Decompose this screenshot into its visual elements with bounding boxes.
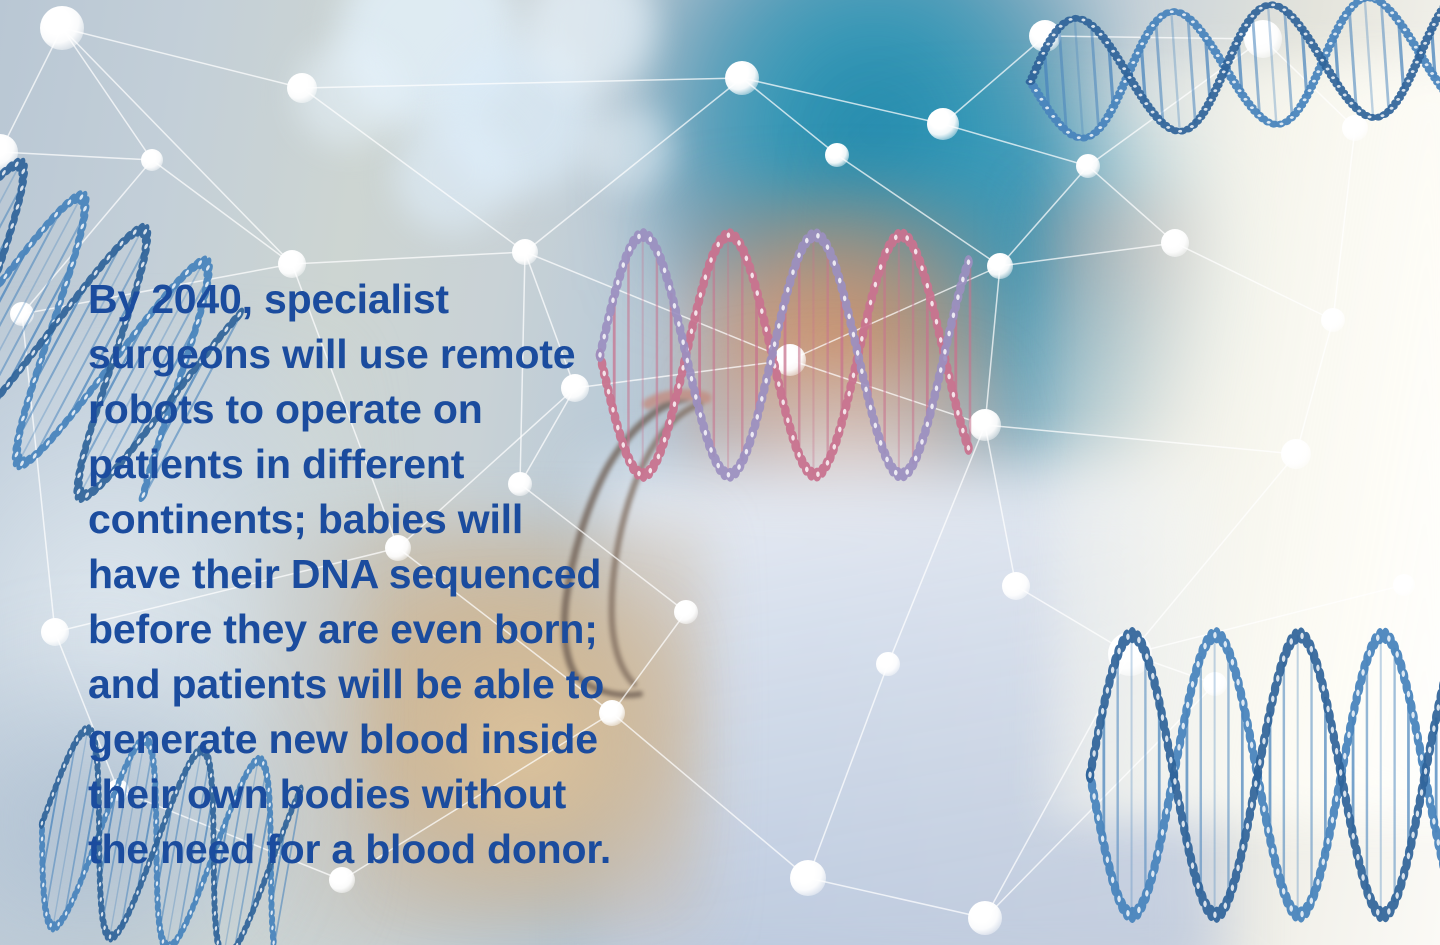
quote-text: By 2040, specialist surgeons will use re…	[88, 272, 648, 877]
dna-rung	[1253, 16, 1260, 116]
dna-rung	[1075, 18, 1083, 138]
dna-rung	[1156, 22, 1163, 124]
dna-strand	[1090, 635, 1440, 915]
dna-rung	[1091, 25, 1098, 130]
dna-centre-pink-icon	[600, 205, 970, 505]
dna-rung	[0, 184, 22, 388]
dna-strand	[1026, 0, 1440, 142]
dna-rung	[1188, 17, 1195, 123]
dna-bottom-right-icon	[1090, 600, 1440, 945]
dna-rung	[1381, 3, 1389, 112]
dna-rung	[1059, 28, 1066, 131]
dna-rung	[53, 730, 88, 927]
dna-top-right-icon	[1025, 0, 1440, 156]
quote-graphic: By 2040, specialist surgeons will use re…	[0, 0, 1440, 945]
dna-rung	[1365, 0, 1373, 118]
dna-rung	[1171, 12, 1179, 132]
dna-strand	[1090, 635, 1440, 915]
dna-rung	[1285, 10, 1293, 117]
dna-strand-highlight	[1090, 635, 1440, 915]
dna-strand-highlight	[1090, 635, 1440, 915]
dna-rung	[1349, 10, 1356, 109]
dna-rung	[1268, 5, 1276, 124]
